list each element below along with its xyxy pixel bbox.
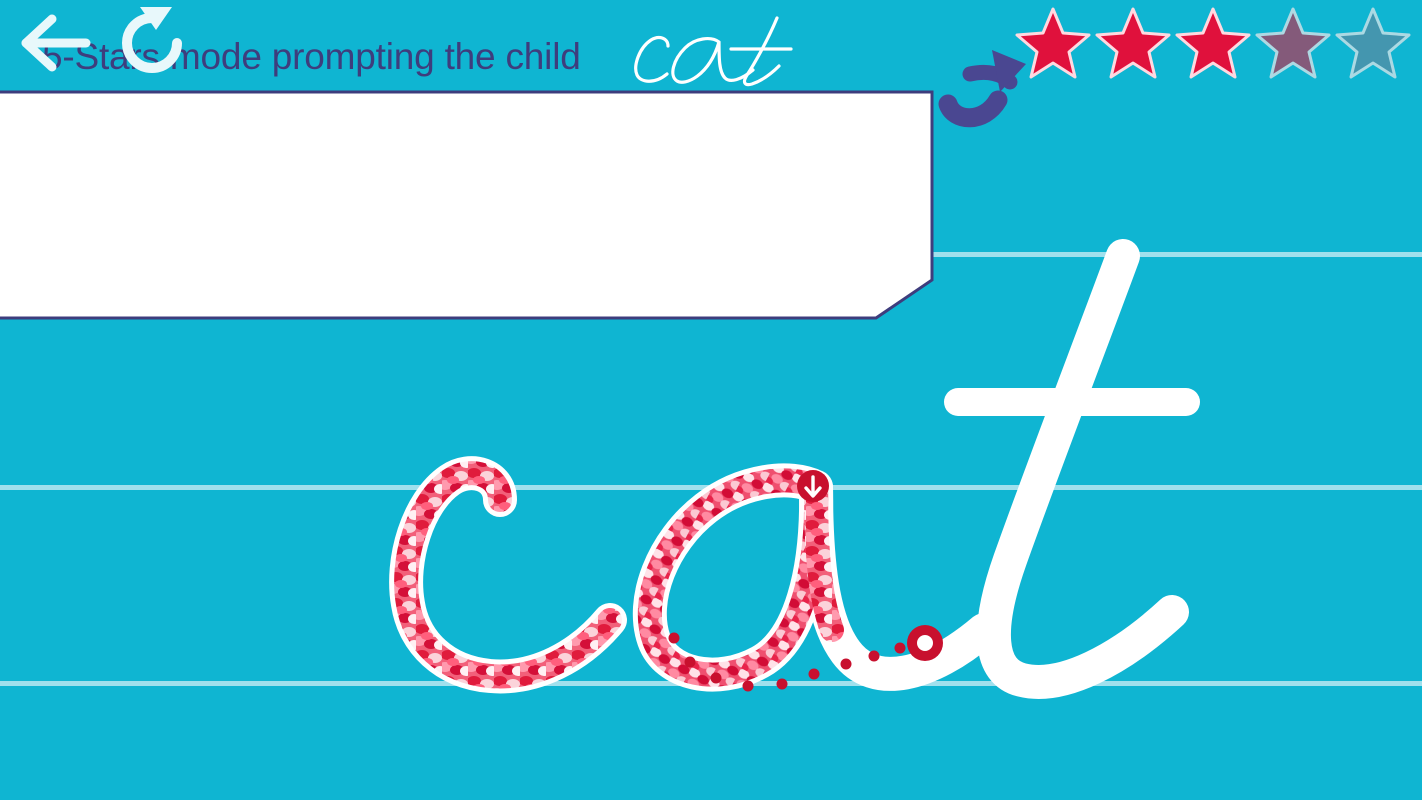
star-5 <box>1334 4 1412 80</box>
top-toolbar <box>0 0 1422 92</box>
word-title-cursive <box>611 2 851 90</box>
star-icon <box>1014 4 1092 80</box>
annotation-callout <box>0 90 936 320</box>
refresh-icon <box>110 4 194 82</box>
star-icon <box>1094 4 1172 80</box>
star-icon <box>1334 4 1412 80</box>
star-icon <box>1174 4 1252 80</box>
tracing-app-screen: 5-Stars mode prompting the child to trac… <box>0 0 1422 800</box>
star-icon <box>1254 4 1332 80</box>
restart-button[interactable] <box>110 4 194 82</box>
star-4 <box>1254 4 1332 80</box>
star-3 <box>1174 4 1252 80</box>
star-2 <box>1094 4 1172 80</box>
arrow-left-icon <box>14 8 98 78</box>
star-rating <box>1014 4 1412 80</box>
back-button[interactable] <box>14 8 98 78</box>
star-1 <box>1014 4 1092 80</box>
